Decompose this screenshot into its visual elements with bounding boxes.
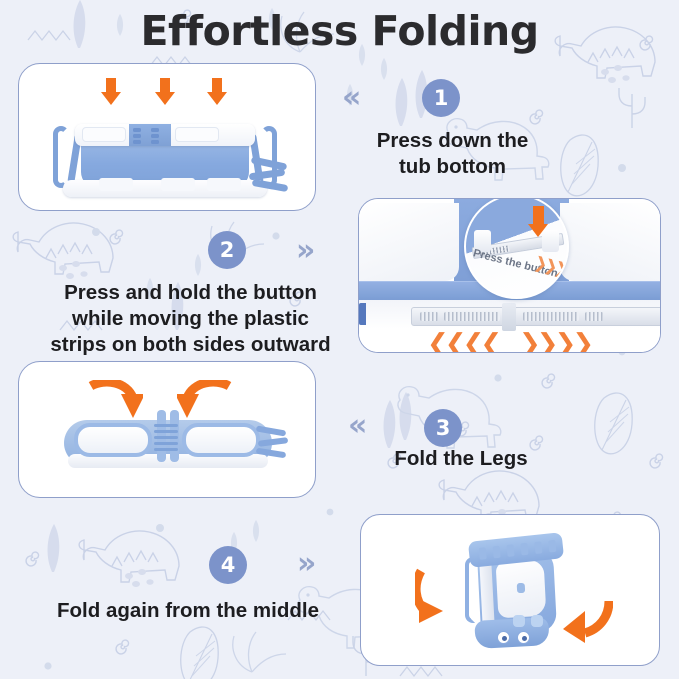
upright-white-face (496, 560, 547, 618)
tub-illustration-step1 (51, 112, 279, 200)
flow-chevron-left-1: « (342, 83, 357, 113)
step-badge-1: 1 (422, 79, 460, 117)
upright-drain-plug (517, 583, 526, 593)
tub-pressed-down-photo (18, 63, 316, 211)
upright-eye-left (497, 631, 510, 644)
infographic-canvas: Effortless Folding (0, 0, 679, 679)
step-badge-4: 4 (209, 546, 247, 584)
upright-folded-tub-photo (360, 514, 660, 666)
closeup-plastic-strip-right (514, 307, 661, 326)
upright-nub-b (531, 615, 543, 627)
curved-arrow-right-step4 (557, 597, 613, 643)
flat-tub-side-parts (256, 426, 290, 466)
flow-chevron-right-4: » (297, 549, 312, 579)
upright-nub-a (513, 615, 525, 627)
flow-chevron-right-2: » (296, 236, 311, 266)
upright-tub-illustration (461, 535, 571, 650)
orange-chevrons-right: ❯❯❯❯ (519, 331, 590, 353)
closeup-white-right (560, 203, 660, 281)
upright-eye-right (517, 631, 530, 644)
button-closeup-photo: ❮❮❮❮ ❯❯❯❯ Press the button ❯❯❯ (358, 198, 661, 353)
curved-arrow-left-step4 (415, 567, 463, 623)
flat-tub-ridges (154, 424, 180, 454)
step-instruction-4: Fold again from the middle (28, 598, 348, 624)
step-badge-2: 2 (208, 231, 246, 269)
step-instruction-1: Press down the tub bottom (340, 128, 565, 180)
curved-arrow-left-step3 (87, 380, 143, 422)
flat-tub-illustration (64, 414, 272, 472)
closeup-white-left (359, 203, 459, 281)
tub-folded-side-parts (249, 158, 289, 198)
tub-pad-right (175, 127, 219, 142)
press-button-inset-circle: Press the button ❯❯❯ (464, 198, 569, 299)
page-title: Effortless Folding (0, 6, 679, 56)
flat-tub-panel-left (74, 423, 152, 457)
tub-pad-left (82, 127, 126, 142)
orange-chevrons-left: ❮❮❮❮ (427, 331, 498, 353)
closeup-strip-center-joint (502, 303, 516, 331)
step-badge-3: 3 (424, 409, 462, 447)
closeup-blue-nub (359, 303, 366, 325)
flat-tub-panel-right (182, 423, 260, 457)
step-instruction-3: Fold the Legs (355, 446, 567, 472)
tub-handle-left (53, 126, 69, 188)
flow-chevron-left-3: « (348, 411, 363, 441)
step-instruction-2: Press and hold the button while moving t… (28, 280, 353, 358)
curved-arrow-right-step3 (177, 380, 233, 422)
upright-handle (465, 557, 475, 623)
flat-folded-tub-photo (18, 361, 316, 498)
